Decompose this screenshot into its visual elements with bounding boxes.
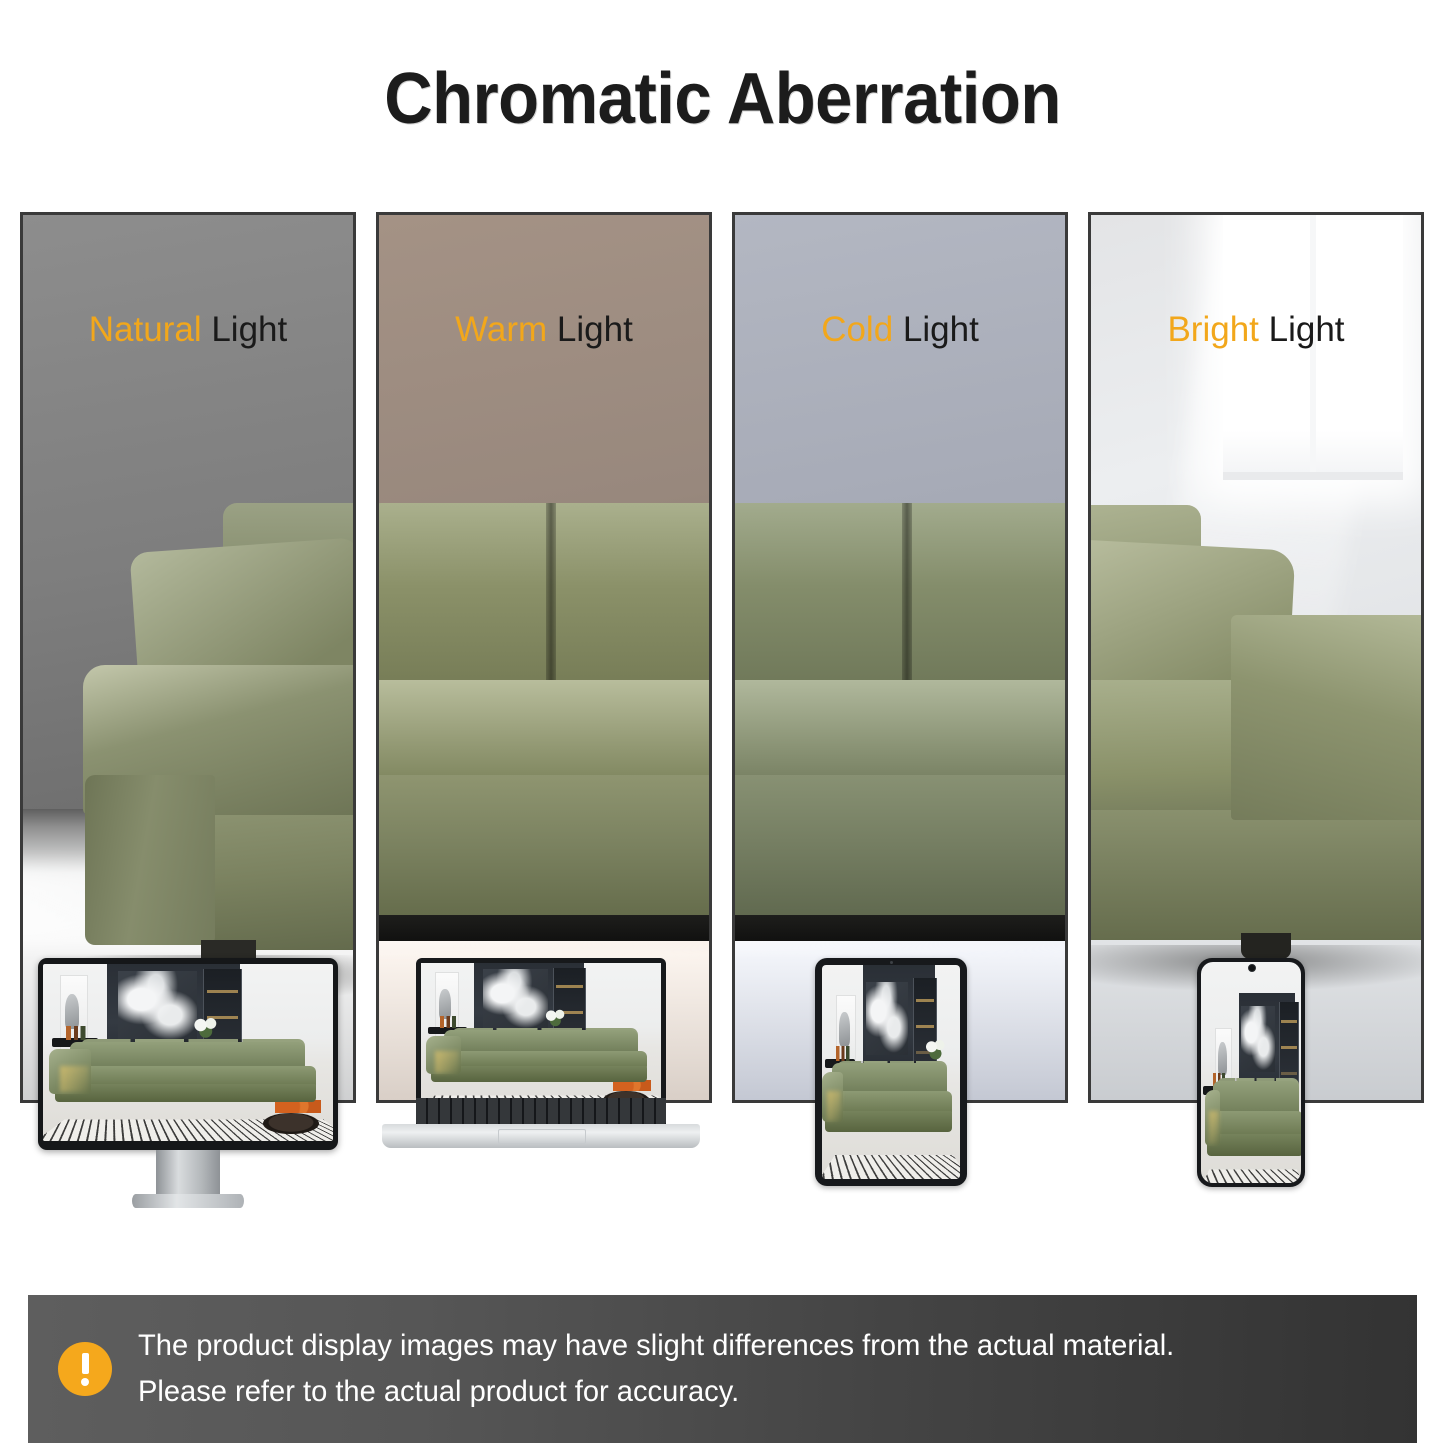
panel-label-cold: Cold Light (735, 310, 1065, 350)
sofa-seat-cold (735, 680, 1065, 775)
monitor-screen (43, 964, 333, 1141)
panel-plain-word-natural: Light (211, 310, 287, 349)
laptop-trackpad[interactable] (498, 1129, 586, 1144)
disclaimer-line-1: The product display images may have slig… (138, 1323, 1174, 1369)
sofa-legs-cold (735, 915, 1065, 941)
room-sofa (55, 1042, 316, 1102)
panel-accent-word-bright: Bright (1167, 310, 1258, 349)
warning-exclamation-icon (58, 1342, 112, 1396)
sofa-arm-bright (1231, 615, 1421, 820)
panel-plain-word-cold: Light (903, 310, 979, 349)
sofa-base-warm (379, 767, 709, 922)
sofa-backrest-warm (379, 503, 709, 688)
disclaimer-bar: The product display images may have slig… (28, 1295, 1417, 1443)
laptop-keyboard[interactable] (416, 1098, 666, 1124)
room-scene (421, 963, 661, 1115)
device-phone (1197, 958, 1305, 1187)
disclaimer-line-2: Please refer to the actual product for a… (138, 1369, 1174, 1415)
sofa-base-cold (735, 767, 1065, 922)
device-laptop: HUAWEI (382, 958, 700, 1148)
tablet-bezel (815, 958, 967, 1186)
panel-label-natural: Natural Light (23, 310, 353, 350)
sofa-backrest-cold (735, 503, 1065, 688)
camera-icon (890, 961, 893, 964)
panel-accent-word-cold: Cold (821, 310, 893, 349)
room-scene (822, 965, 960, 1179)
room-sofa (1207, 1081, 1301, 1156)
device-monitor (38, 958, 338, 1208)
phone-bezel (1197, 958, 1305, 1187)
tablet-screen (822, 965, 960, 1179)
room-sofa (825, 1063, 952, 1131)
panel-label-bright: Bright Light (1091, 310, 1421, 350)
monitor-stand-neck (156, 1150, 220, 1194)
monitor-stand-foot (132, 1194, 244, 1208)
panel-accent-word-warm: Warm (455, 310, 547, 349)
sofa-seat-warm (379, 680, 709, 775)
laptop-base (382, 1124, 700, 1148)
panel-plain-word-bright: Light (1269, 310, 1345, 349)
panel-accent-word-natural: Natural (89, 310, 202, 349)
monitor-bezel (38, 958, 338, 1150)
phone-screen (1201, 962, 1301, 1183)
page-title: Chromatic Aberration (51, 58, 1395, 140)
sofa-arm-front-natural (85, 775, 215, 945)
sofa-leg-bright (1241, 933, 1291, 959)
panel-plain-word-warm: Light (557, 310, 633, 349)
camera-icon (1248, 964, 1256, 972)
room-scene (1201, 962, 1301, 1183)
panel-label-warm: Warm Light (379, 310, 709, 350)
device-tablet (815, 958, 967, 1186)
room-scene (43, 964, 333, 1141)
sofa-legs-warm (379, 915, 709, 941)
room-sofa (431, 1030, 647, 1082)
laptop-screen (421, 963, 661, 1115)
disclaimer-text: The product display images may have slig… (138, 1323, 1174, 1414)
